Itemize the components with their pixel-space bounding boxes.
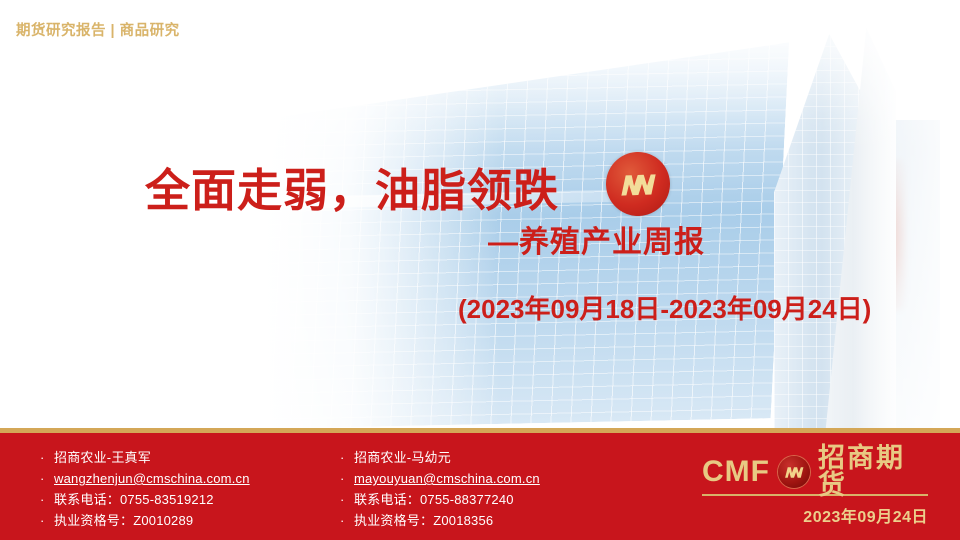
bullet-icon: · xyxy=(340,468,354,489)
contact-email-link[interactable]: mayouyuan@cmschina.com.cn xyxy=(354,468,540,489)
hero-building-image xyxy=(170,0,960,430)
bullet-icon: · xyxy=(40,447,54,468)
contact-license: 执业资格号：Z0018356 xyxy=(354,510,493,531)
contact-phone: 联系电话：0755-83519212 xyxy=(54,489,214,510)
contact-license: 执业资格号：Z0010289 xyxy=(54,510,193,531)
contact-phone-row: · 联系电话：0755-88377240 xyxy=(340,489,540,510)
contact-column-1: · 招商农业-王真军 · wangzhenjun@cmschina.com.cn… xyxy=(40,447,250,531)
contact-email-link[interactable]: wangzhenjun@cmschina.com.cn xyxy=(54,468,250,489)
bullet-icon: · xyxy=(40,510,54,531)
photo-fade-left xyxy=(170,0,500,430)
contact-name: 招商农业-王真军 xyxy=(54,447,151,468)
contact-phone-row: · 联系电话：0755-83519212 xyxy=(40,489,250,510)
contact-license-row: · 执业资格号：Z0018356 xyxy=(340,510,540,531)
contact-license-row: · 执业资格号：Z0010289 xyxy=(40,510,250,531)
brand-name: 招商期货 xyxy=(818,445,928,499)
contact-email-row[interactable]: · mayouyuan@cmschina.com.cn xyxy=(340,468,540,489)
contact-name-row: · 招商农业-马幼元 xyxy=(340,447,540,468)
bullet-icon: · xyxy=(340,489,354,510)
contact-column-2: · 招商农业-马幼元 · mayouyuan@cmschina.com.cn ·… xyxy=(340,447,540,531)
contact-phone: 联系电话：0755-88377240 xyxy=(354,489,514,510)
contact-name-row: · 招商农业-王真军 xyxy=(40,447,250,468)
bullet-icon: · xyxy=(340,447,354,468)
bullet-icon: · xyxy=(40,468,54,489)
footer-bar: · 招商农业-王真军 · wangzhenjun@cmschina.com.cn… xyxy=(0,433,960,540)
brand-row: CMF 招商期货 xyxy=(702,455,928,489)
hero-building-artwork xyxy=(170,0,960,430)
cmf-emblem-glyph xyxy=(783,464,805,480)
cmb-emblem-glyph xyxy=(616,168,659,199)
brand-abbreviation: CMF xyxy=(702,457,770,487)
brand-lockup: CMF 招商期货 2023年09月24日 xyxy=(702,455,928,527)
contact-name: 招商农业-马幼元 xyxy=(354,447,451,468)
publish-date: 2023年09月24日 xyxy=(702,503,928,527)
bullet-icon: · xyxy=(340,510,354,531)
cmf-emblem-icon xyxy=(778,456,810,488)
slide-root: 期货研究报告 | 商品研究 xyxy=(0,0,960,540)
photo-fade-right xyxy=(810,0,960,430)
bullet-icon: · xyxy=(40,489,54,510)
report-category-eyebrow: 期货研究报告 | 商品研究 xyxy=(16,19,180,40)
contact-email-row[interactable]: · wangzhenjun@cmschina.com.cn xyxy=(40,468,250,489)
